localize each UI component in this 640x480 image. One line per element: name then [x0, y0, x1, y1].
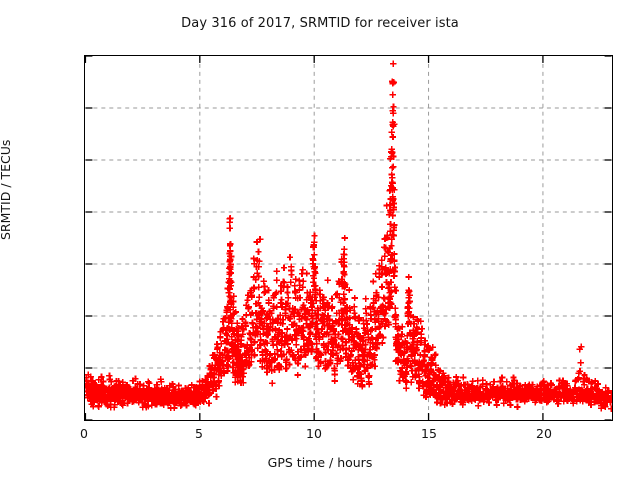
- x-axis-title: GPS time / hours: [0, 455, 640, 470]
- x-tick-label: 0: [80, 426, 88, 441]
- chart-title: Day 316 of 2017, SRMTID for receiver ist…: [0, 16, 640, 31]
- x-tick-label: 15: [421, 426, 437, 441]
- x-tick-label: 10: [306, 426, 322, 441]
- y-axis-title: SRMTID / TECUs: [0, 140, 13, 240]
- x-tick-label: 20: [536, 426, 552, 441]
- x-tick-label: 5: [195, 426, 203, 441]
- scatter-series-srmtid: [85, 56, 612, 420]
- plot-frame: [84, 55, 613, 421]
- plot-canvas: Day 316 of 2017, SRMTID for receiver ist…: [0, 0, 640, 480]
